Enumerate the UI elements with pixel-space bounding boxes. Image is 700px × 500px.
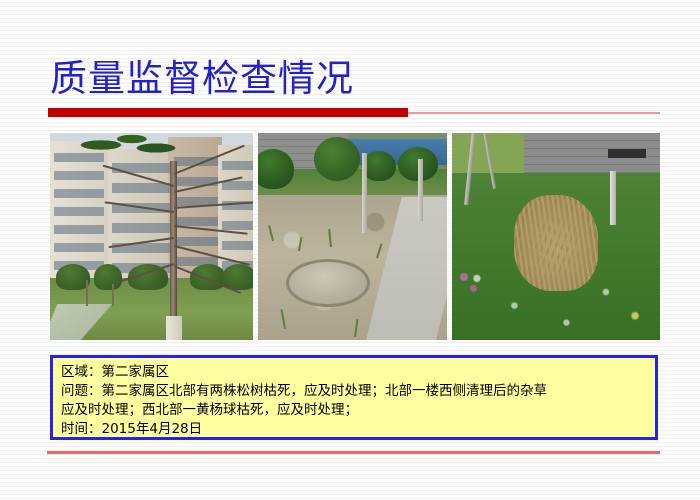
photo1-window-row	[112, 183, 170, 193]
photo1-window-row	[222, 221, 253, 230]
photo1-footpath	[50, 304, 139, 340]
photo1-window-row	[222, 181, 253, 190]
note-text: 区域：第二家属区 问题：第二家属区北部有两株松树枯死，应及时处理；北部一楼西侧清…	[61, 363, 647, 439]
photo3-wall-vent	[608, 149, 646, 158]
photo2-tree-crown	[314, 137, 360, 181]
photo-strip	[50, 133, 660, 340]
photo1-shrub	[94, 264, 122, 290]
photo1-window-row	[174, 237, 218, 246]
note-box: 区域：第二家属区 问题：第二家属区北部有两株松树枯死，应及时处理；北部一楼西侧清…	[50, 355, 658, 440]
photo1-trunk-whitewash	[166, 316, 182, 340]
photo1-foreground-leaves	[68, 133, 178, 157]
photo1-window-row	[54, 243, 104, 252]
photo2-tree-trunk	[362, 153, 367, 233]
photo1-dead-pine-trunk	[170, 161, 177, 337]
slide-canvas: 质量监督检查情况	[0, 0, 700, 500]
photo1-window-row	[222, 161, 253, 170]
title-underline-accent	[48, 108, 408, 117]
photo1-shrub	[56, 264, 90, 290]
photo2-tree-trunk	[418, 159, 423, 221]
photo1-window-row	[54, 207, 104, 216]
footer-accent-line	[47, 451, 660, 454]
photo1-sapling	[112, 284, 114, 306]
photo1-window-row	[112, 223, 170, 233]
photo1-window-row	[54, 189, 104, 198]
photo3-white-post	[610, 171, 616, 225]
page-title: 质量监督检查情况	[50, 58, 354, 102]
photo2-bush	[362, 151, 396, 181]
photo2-bush	[258, 149, 294, 189]
photo1-window-row	[222, 241, 253, 250]
photo-cleared-soil-manhole[interactable]	[258, 133, 447, 340]
photo3-purple-flower	[470, 285, 477, 292]
photo1-window-row	[54, 171, 104, 180]
photo1-sapling	[86, 280, 88, 306]
photo3-purple-flower	[460, 273, 468, 281]
photo2-manhole-cover	[286, 259, 370, 307]
photo-dead-boxwood[interactable]	[452, 133, 660, 340]
photo3-dead-boxwood-ball	[514, 195, 598, 291]
photo1-window-row	[174, 217, 218, 226]
photo-dead-pine-tree[interactable]	[50, 133, 253, 340]
photo1-window-row	[54, 225, 104, 234]
